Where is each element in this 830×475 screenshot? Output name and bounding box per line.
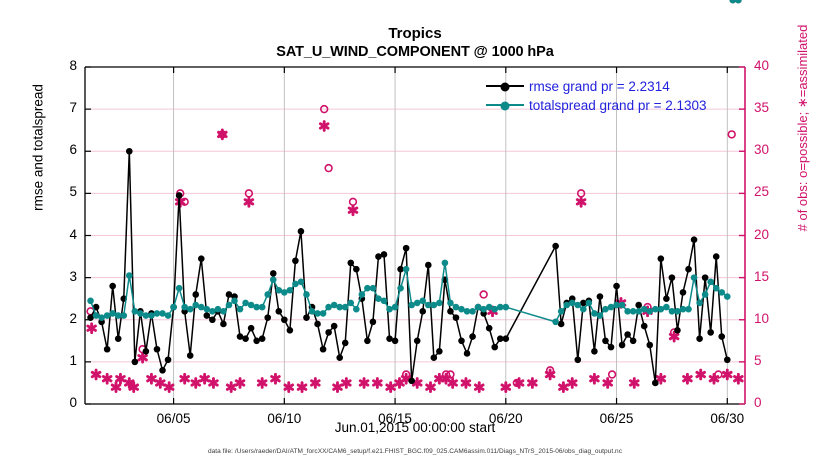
y-tick-left-6: 6 xyxy=(37,142,77,157)
data-point-rmse xyxy=(353,266,360,273)
data-point-rmse xyxy=(597,293,604,300)
y-tick-left-8: 8 xyxy=(37,58,77,73)
data-point-rmse xyxy=(453,314,460,321)
data-point-rmse xyxy=(663,295,670,302)
obs-assimilated-marker xyxy=(502,383,510,392)
data-point-rmse xyxy=(608,344,615,351)
obs-assimilated-marker xyxy=(117,374,125,383)
y-tick-left-0: 0 xyxy=(37,395,77,410)
y-tick-left-2: 2 xyxy=(37,311,77,326)
y-tick-left-7: 7 xyxy=(37,100,77,115)
y-tick-right-25: 25 xyxy=(754,184,794,199)
x-tick-06-05: 06/05 xyxy=(139,411,209,426)
obs-assimilated-marker xyxy=(320,122,328,131)
data-point-rmse xyxy=(292,257,299,264)
obs-assimilated-marker xyxy=(710,374,718,383)
data-point-totalspread xyxy=(320,310,327,317)
data-point-totalspread xyxy=(287,287,294,294)
obs-possible-marker xyxy=(325,165,332,172)
data-point-totalspread xyxy=(718,289,725,296)
data-point-rmse xyxy=(707,329,714,336)
data-point-totalspread xyxy=(707,279,714,286)
data-point-totalspread xyxy=(552,319,559,326)
legend-label-rmse: rmse grand pr = 2.2314 xyxy=(529,79,670,94)
y-tick-right-40: 40 xyxy=(754,58,794,73)
y-tick-right-10: 10 xyxy=(754,311,794,326)
data-point-rmse xyxy=(325,329,332,336)
data-point-rmse xyxy=(613,283,620,290)
data-point-totalspread xyxy=(359,291,366,298)
obs-assimilated-marker xyxy=(630,379,638,388)
data-point-totalspread xyxy=(347,300,354,307)
data-point-rmse xyxy=(431,354,438,361)
obs-assimilated-marker xyxy=(165,383,173,392)
data-point-rmse xyxy=(104,346,111,353)
data-point-rmse xyxy=(635,302,642,309)
plot-area-wrapper xyxy=(0,0,830,470)
x-tick-06-15: 06/15 xyxy=(360,411,430,426)
data-point-rmse xyxy=(347,260,354,267)
data-point-rmse xyxy=(370,319,377,326)
data-point-rmse xyxy=(669,274,676,281)
data-point-rmse xyxy=(658,255,665,262)
data-point-rmse xyxy=(436,348,443,355)
data-point-rmse xyxy=(602,338,609,345)
data-point-rmse xyxy=(187,352,194,359)
data-point-rmse xyxy=(702,274,709,281)
data-point-rmse xyxy=(143,348,150,355)
data-point-rmse xyxy=(419,308,426,315)
data-point-rmse xyxy=(154,346,161,353)
y-tick-right-5: 5 xyxy=(754,353,794,368)
data-point-rmse xyxy=(109,283,116,290)
data-point-rmse xyxy=(464,350,471,357)
obs-assimilated-marker xyxy=(735,374,743,383)
data-point-totalspread xyxy=(231,297,238,304)
data-point-totalspread xyxy=(264,291,271,298)
data-file-footer: data file: /Users/raeder/DAI/ATM_forcXX/… xyxy=(0,448,830,455)
y-tick-right-0: 0 xyxy=(754,395,794,410)
obs-assimilated-marker xyxy=(298,383,306,392)
y-tick-right-20: 20 xyxy=(754,227,794,242)
obs-assimilated-marker xyxy=(349,206,357,215)
obs-assimilated-marker xyxy=(374,379,382,388)
obs-assimilated-marker xyxy=(723,370,731,379)
data-point-totalspread xyxy=(685,306,692,313)
data-point-totalspread xyxy=(342,304,349,311)
obs-assimilated-marker xyxy=(258,379,266,388)
data-point-rmse xyxy=(591,348,598,355)
data-point-rmse xyxy=(685,266,692,273)
chart-svg xyxy=(0,0,830,470)
data-point-totalspread xyxy=(187,306,194,313)
obs-assimilated-marker xyxy=(210,379,218,388)
data-point-totalspread xyxy=(713,285,720,292)
obs-assimilated-marker xyxy=(312,379,320,388)
obs-possible-marker xyxy=(350,198,357,205)
y-tick-left-4: 4 xyxy=(37,227,77,242)
x-tick-06-20: 06/20 xyxy=(471,411,541,426)
legend-line-rmse xyxy=(486,85,524,87)
data-point-totalspread xyxy=(120,312,127,319)
data-point-rmse xyxy=(408,378,415,385)
y-tick-right-35: 35 xyxy=(754,100,794,115)
data-point-totalspread xyxy=(397,285,404,292)
data-point-rmse xyxy=(126,148,133,155)
data-point-rmse xyxy=(619,342,626,349)
data-point-totalspread xyxy=(270,276,277,283)
data-point-rmse xyxy=(469,333,476,340)
data-point-rmse xyxy=(381,251,388,258)
data-point-totalspread xyxy=(691,274,698,281)
legend-marker-totalspread xyxy=(501,102,510,111)
data-point-totalspread xyxy=(392,304,399,311)
obs-assimilated-marker xyxy=(684,374,692,383)
data-point-rmse xyxy=(392,338,399,345)
legend-line-totalspread xyxy=(486,104,524,106)
data-point-rmse xyxy=(204,312,211,319)
data-point-totalspread xyxy=(126,272,133,279)
data-point-totalspread xyxy=(226,302,233,309)
data-point-totalspread xyxy=(259,304,266,311)
obs-assimilated-marker xyxy=(568,379,576,388)
data-point-rmse xyxy=(192,291,199,298)
obs-assimilated-marker xyxy=(697,370,705,379)
y-tick-left-5: 5 xyxy=(37,184,77,199)
data-point-totalspread xyxy=(381,297,388,304)
data-point-rmse xyxy=(336,354,343,361)
data-point-rmse xyxy=(303,314,310,321)
data-point-totalspread xyxy=(442,260,449,267)
data-point-rmse xyxy=(552,243,559,250)
obs-assimilated-marker xyxy=(604,379,612,388)
x-tick-06-25: 06/25 xyxy=(582,411,652,426)
data-point-totalspread xyxy=(87,297,94,304)
data-point-rmse xyxy=(342,340,349,347)
obs-assimilated-marker xyxy=(387,383,395,392)
data-point-rmse xyxy=(176,192,183,199)
data-point-rmse xyxy=(646,342,653,349)
data-point-rmse xyxy=(574,356,581,363)
obs-assimilated-marker xyxy=(334,383,342,392)
y-tick-left-1: 1 xyxy=(37,353,77,368)
data-point-totalspread xyxy=(403,266,410,273)
data-point-rmse xyxy=(403,245,410,252)
data-point-totalspread xyxy=(303,291,310,298)
data-point-totalspread xyxy=(353,306,360,313)
data-point-rmse xyxy=(281,316,288,323)
x-tick-06-30: 06/30 xyxy=(692,411,762,426)
data-point-rmse xyxy=(724,356,731,363)
obs-assimilated-marker xyxy=(148,374,156,383)
y-tick-right-30: 30 xyxy=(754,142,794,157)
data-point-rmse xyxy=(458,338,465,345)
obs-assimilated-marker xyxy=(181,374,189,383)
obs-possible-marker xyxy=(480,291,487,298)
obs-possible-marker xyxy=(728,131,735,138)
data-point-totalspread xyxy=(696,300,703,307)
y-tick-left-3: 3 xyxy=(37,269,77,284)
data-point-totalspread xyxy=(586,300,593,307)
obs-assimilated-marker xyxy=(130,383,138,392)
data-point-totalspread xyxy=(165,312,172,319)
obs-assimilated-marker xyxy=(201,374,209,383)
obs-possible-marker xyxy=(609,371,616,378)
obs-assimilated-marker xyxy=(192,379,200,388)
obs-assimilated-marker xyxy=(343,379,351,388)
data-point-rmse xyxy=(242,335,249,342)
data-point-rmse xyxy=(287,327,294,334)
data-point-rmse xyxy=(718,333,725,340)
legend-item-totalspread: totalspread grand pr = 2.1303 xyxy=(486,95,707,115)
data-point-rmse xyxy=(691,236,698,243)
data-point-rmse xyxy=(331,323,338,330)
obs-assimilated-marker xyxy=(427,383,435,392)
data-point-totalspread xyxy=(597,312,604,319)
data-point-totalspread xyxy=(580,306,587,313)
data-point-rmse xyxy=(159,367,166,374)
data-point-rmse xyxy=(275,308,282,315)
obs-assimilated-marker xyxy=(92,370,100,379)
obs-assimilated-marker xyxy=(591,374,599,383)
series-line-rmse xyxy=(91,151,728,383)
obs-assimilated-marker xyxy=(577,197,585,206)
data-point-totalspread xyxy=(298,279,305,286)
data-point-rmse xyxy=(115,335,122,342)
data-point-totalspread xyxy=(702,291,709,298)
y-tick-right-15: 15 xyxy=(754,269,794,284)
obs-assimilated-marker xyxy=(245,197,253,206)
obs-assimilated-marker xyxy=(560,383,568,392)
data-point-rmse xyxy=(713,253,720,260)
data-point-rmse xyxy=(270,270,277,277)
data-point-totalspread xyxy=(663,304,670,311)
data-point-totalspread xyxy=(619,302,626,309)
data-point-totalspread xyxy=(419,297,426,304)
data-point-rmse xyxy=(132,359,139,366)
data-point-rmse xyxy=(264,314,271,321)
data-point-rmse xyxy=(314,321,321,328)
x-tick-06-10: 06/10 xyxy=(249,411,319,426)
data-point-rmse xyxy=(198,255,205,262)
data-point-rmse xyxy=(425,262,432,269)
data-point-totalspread xyxy=(558,308,565,315)
legend-item-rmse: rmse grand pr = 2.2314 xyxy=(486,76,670,96)
obs-assimilated-marker xyxy=(462,379,470,388)
data-point-rmse xyxy=(165,356,172,363)
data-point-totalspread xyxy=(170,304,177,311)
data-point-rmse xyxy=(220,321,227,328)
data-point-rmse xyxy=(624,331,631,338)
data-point-totalspread xyxy=(220,308,227,315)
data-point-rmse xyxy=(491,344,498,351)
data-point-totalspread xyxy=(503,304,510,311)
obs-assimilated-marker xyxy=(156,379,164,388)
legend-label-totalspread: totalspread grand pr = 2.1303 xyxy=(529,98,707,113)
obs-assimilated-marker xyxy=(103,374,111,383)
data-point-rmse xyxy=(447,308,454,315)
data-point-rmse xyxy=(259,335,266,342)
data-point-totalspread xyxy=(469,308,476,315)
obs-assimilated-marker xyxy=(227,383,235,392)
obs-assimilated-marker xyxy=(236,379,244,388)
data-point-rmse xyxy=(209,316,216,323)
data-point-totalspread xyxy=(436,300,443,307)
obs-assimilated-marker xyxy=(88,324,96,333)
data-point-rmse xyxy=(641,323,648,330)
obs-assimilated-marker xyxy=(529,379,537,388)
chart-page: Tropics SAT_U_WIND_COMPONENT @ 1000 hPa … xyxy=(0,0,830,470)
data-point-rmse xyxy=(414,338,421,345)
data-point-rmse xyxy=(248,325,255,332)
data-point-totalspread xyxy=(176,285,183,292)
data-point-rmse xyxy=(298,228,305,235)
data-point-totalspread xyxy=(724,293,731,300)
data-point-rmse xyxy=(630,338,637,345)
obs-assimilated-marker xyxy=(360,379,368,388)
y-axis-right-label: # of obs: o=possible; ∗=assimilated xyxy=(795,0,811,263)
obs-assimilated-marker xyxy=(285,383,293,392)
data-point-rmse xyxy=(652,380,659,387)
data-point-totalspread xyxy=(735,0,742,3)
data-point-rmse xyxy=(680,289,687,296)
legend-marker-rmse xyxy=(501,83,510,92)
obs-assimilated-marker xyxy=(139,353,147,362)
data-point-rmse xyxy=(674,327,681,334)
data-point-rmse xyxy=(364,338,371,345)
obs-assimilated-marker xyxy=(449,379,457,388)
obs-assimilated-marker xyxy=(475,383,483,392)
obs-assimilated-marker xyxy=(112,383,120,392)
obs-assimilated-marker xyxy=(272,374,280,383)
data-point-totalspread xyxy=(574,302,581,309)
data-point-rmse xyxy=(696,335,703,342)
data-point-rmse xyxy=(486,325,493,332)
data-point-totalspread xyxy=(370,285,377,292)
data-point-totalspread xyxy=(447,300,454,307)
chart-legend: rmse grand pr = 2.2314 totalspread grand… xyxy=(486,76,744,120)
data-point-rmse xyxy=(503,335,510,342)
data-point-totalspread xyxy=(237,306,244,313)
data-point-rmse xyxy=(320,346,327,353)
